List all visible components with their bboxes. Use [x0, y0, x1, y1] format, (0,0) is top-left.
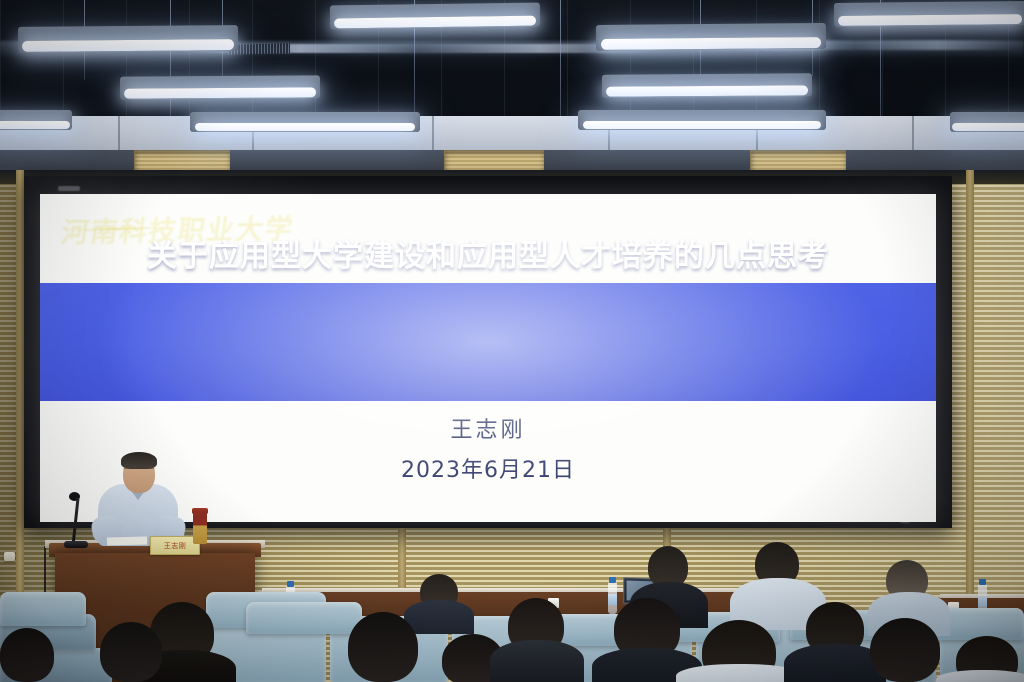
speaker-papers [107, 536, 147, 545]
audience-head [348, 612, 418, 682]
ceiling-lamp [602, 73, 812, 97]
audience-head [870, 618, 940, 682]
ceiling-lamp [578, 110, 826, 130]
ceiling-lamp [330, 3, 540, 30]
auditorium-seat [246, 602, 362, 634]
bezel-specular-highlight [58, 186, 80, 191]
presentation-slide: 河南科技职业大学 关于应用型大学建设和应用型人才培养的几点思考 王志刚 2023… [40, 194, 936, 522]
slide-date: 2023年6月21日 [40, 452, 936, 484]
audience-head [100, 622, 162, 682]
audience-head [0, 628, 54, 682]
audience-shoulder [936, 670, 1024, 682]
microphone-base [64, 541, 88, 548]
ceiling-lamp [120, 75, 320, 99]
ceiling-lamp [834, 1, 1024, 27]
ceiling [0, 0, 1024, 196]
ceiling-lamp [18, 25, 238, 53]
auditorium-seat [0, 592, 86, 626]
ceiling-lamp [190, 112, 420, 132]
ceiling-lamp [0, 110, 72, 130]
slide-speaker-name: 王志刚 [40, 412, 936, 444]
lamp-suspension-wire [170, 0, 171, 124]
slide-title: 关于应用型大学建设和应用型人才培养的几点思考 [40, 194, 936, 312]
ceiling-lamp [950, 112, 1024, 132]
speaker-glasses [124, 468, 154, 475]
ceiling-lamp [596, 23, 826, 51]
wall-socket [4, 552, 15, 561]
lecture-hall-photo: 河南科技职业大学 关于应用型大学建设和应用型人才培养的几点思考 王志刚 2023… [0, 0, 1024, 682]
speaker-hair [121, 452, 157, 469]
water-bottle [608, 582, 617, 614]
audience-shoulder [490, 640, 584, 682]
audience-shoulder [404, 600, 474, 634]
tea-cup [193, 512, 207, 544]
